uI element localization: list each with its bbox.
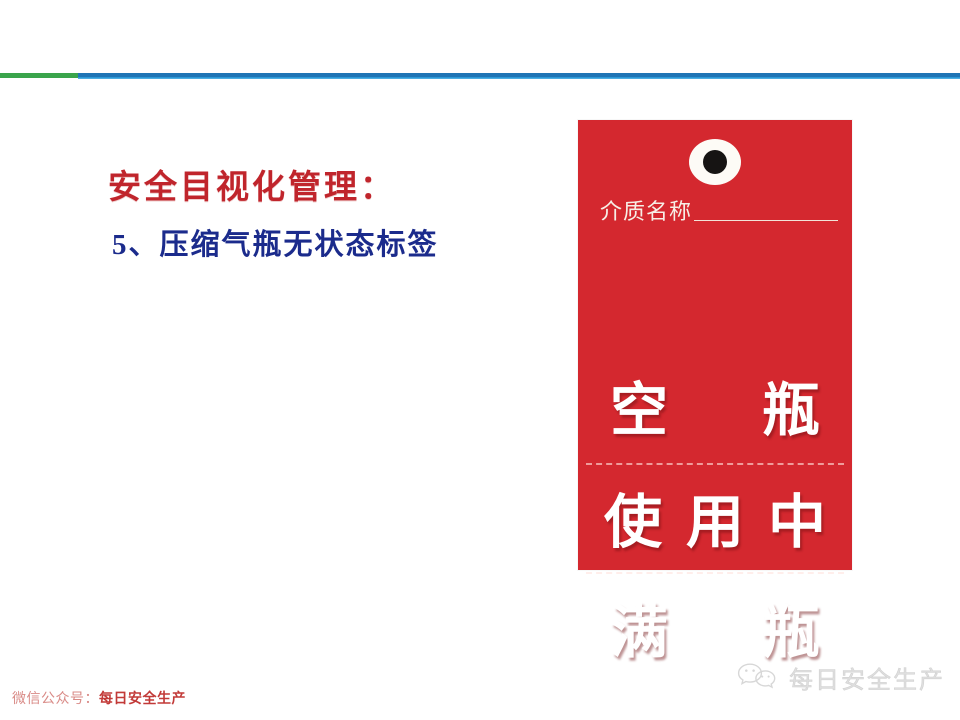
tag-char-empty-1: 空 <box>610 381 668 439</box>
tag-char-inuse-1: 使 <box>604 493 662 551</box>
medium-name-blank-line <box>694 220 838 221</box>
tag-perforation-line-2 <box>586 572 844 574</box>
footer-wechat-credit: 微信公众号：每日安全生产 <box>12 692 186 706</box>
medium-name-field: 介质名称 <box>600 202 838 224</box>
medium-name-label: 介质名称 <box>600 202 692 224</box>
watermark-text: 每日安全生产 <box>789 660 945 695</box>
tag-char-full-2: 瓶 <box>762 603 820 661</box>
tag-char-inuse-3: 中 <box>768 493 826 551</box>
footer-wechat-account: 每日安全生产 <box>99 691 186 707</box>
page-subtitle: 5、压缩气瓶无状态标签 <box>112 227 528 265</box>
tag-section-in-use: 使 用 中 <box>578 472 852 572</box>
slide-canvas: 安全目视化管理： 5、压缩气瓶无状态标签 介质名称 空 瓶 使 用 中 <box>0 0 960 720</box>
tag-char-inuse-2: 用 <box>686 493 744 551</box>
gas-cylinder-status-tag: 介质名称 空 瓶 使 用 中 满 瓶 <box>578 120 852 570</box>
header-divider <box>0 73 960 78</box>
watermark: 每日安全生产 <box>735 660 945 695</box>
heading-block: 安全目视化管理： 5、压缩气瓶无状态标签 <box>108 168 528 265</box>
divider-blue-highlight <box>78 77 960 79</box>
page-title: 安全目视化管理： <box>108 168 528 209</box>
divider-green-segment <box>0 73 78 78</box>
tag-punch-hole-center <box>703 150 727 174</box>
tag-section-empty-bottle: 空 瓶 <box>578 360 852 460</box>
tag-char-full-1: 满 <box>610 603 668 661</box>
wechat-icon <box>735 660 779 695</box>
tag-punch-hole-icon <box>689 139 741 185</box>
footer-wechat-label: 微信公众号： <box>12 691 99 707</box>
tag-perforation-line-1 <box>586 463 844 465</box>
tag-char-empty-2: 瓶 <box>762 381 820 439</box>
